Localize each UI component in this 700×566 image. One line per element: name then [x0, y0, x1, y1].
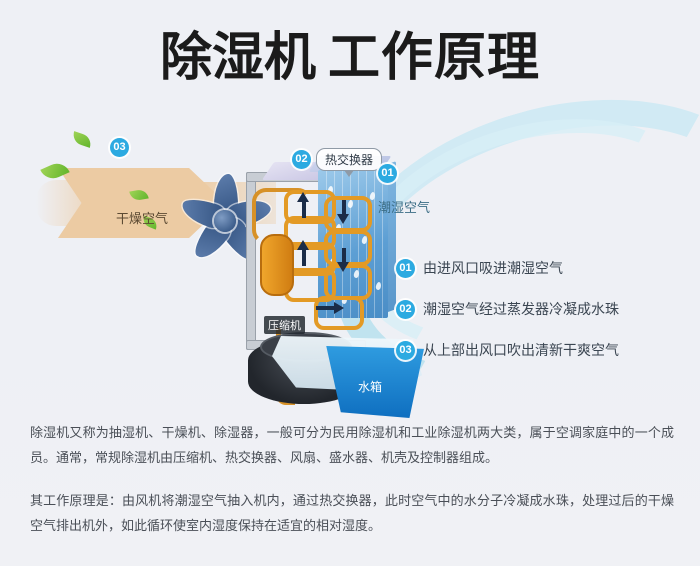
copper-coil: [324, 230, 372, 266]
flow-arrow-stem: [302, 202, 306, 218]
fan-hub: [214, 210, 236, 232]
leaf-icon: [71, 131, 93, 148]
dry-air-badge-group: 03: [110, 138, 129, 157]
step-text: 潮湿空气经过蒸发器冷凝成水珠: [423, 299, 619, 319]
dry-air-badge: 03: [110, 138, 129, 157]
heat-exchanger-badge: 02: [292, 150, 311, 169]
humid-air-callout: 01 潮湿空气: [378, 164, 430, 216]
step-badge: 01: [396, 259, 415, 278]
humid-air-badge: 01: [378, 164, 397, 183]
flow-arrow-stem: [342, 248, 346, 262]
compressor-cylinder: [260, 234, 294, 296]
refrigerant-coil-assembly: [258, 186, 378, 336]
water-tank-label: 水箱: [358, 378, 382, 395]
flow-arrow-up-icon: [297, 240, 309, 250]
flow-arrow-up-icon: [297, 192, 309, 202]
title-part-1: 除湿机: [160, 28, 316, 88]
body-copy: 除湿机又称为抽湿机、干燥机、除湿器，一般可分为民用除湿机和工业除湿机两大类，属于…: [30, 420, 674, 556]
humid-air-label: 潮湿空气: [378, 197, 430, 216]
step-badge: 02: [396, 300, 415, 319]
step-badge: 03: [396, 341, 415, 360]
list-item: 03 从上部出风口吹出清新干爽空气: [396, 340, 686, 360]
list-item: 02 潮湿空气经过蒸发器冷凝成水珠: [396, 299, 686, 319]
step-text: 由进风口吸进潮湿空气: [423, 258, 563, 278]
title-part-2: 工作原理: [328, 28, 540, 88]
heat-exchanger-callout: 02 热交换器: [292, 148, 382, 171]
paragraph-1: 除湿机又称为抽湿机、干燥机、除湿器，一般可分为民用除湿机和工业除湿机两大类，属于…: [30, 420, 674, 470]
flow-arrow-down-icon: [337, 214, 349, 224]
heat-exchanger-label: 热交换器: [316, 148, 382, 171]
steps-list: 01 由进风口吸进潮湿空气 02 潮湿空气经过蒸发器冷凝成水珠 03 从上部出风…: [396, 258, 686, 381]
flow-arrow-stem: [342, 200, 346, 214]
flow-arrow-stem: [302, 250, 306, 266]
flow-arrow-down-icon: [337, 262, 349, 272]
infographic-page: 除湿机工作原理 干燥空气 03: [0, 0, 700, 566]
flow-arrow-stem: [316, 306, 334, 310]
flow-arrow-right-icon: [334, 302, 344, 314]
dry-air-label: 干燥空气: [116, 208, 168, 227]
page-title: 除湿机工作原理: [0, 28, 700, 88]
paragraph-2: 其工作原理是：由风机将潮湿空气抽入机内，通过热交换器，此时空气中的水分子冷凝成水…: [30, 488, 674, 538]
step-text: 从上部出风口吹出清新干爽空气: [423, 340, 619, 360]
dry-air-arrow-fade: [36, 180, 96, 226]
list-item: 01 由进风口吸进潮湿空气: [396, 258, 686, 278]
compressor-label: 压缩机: [264, 316, 305, 334]
